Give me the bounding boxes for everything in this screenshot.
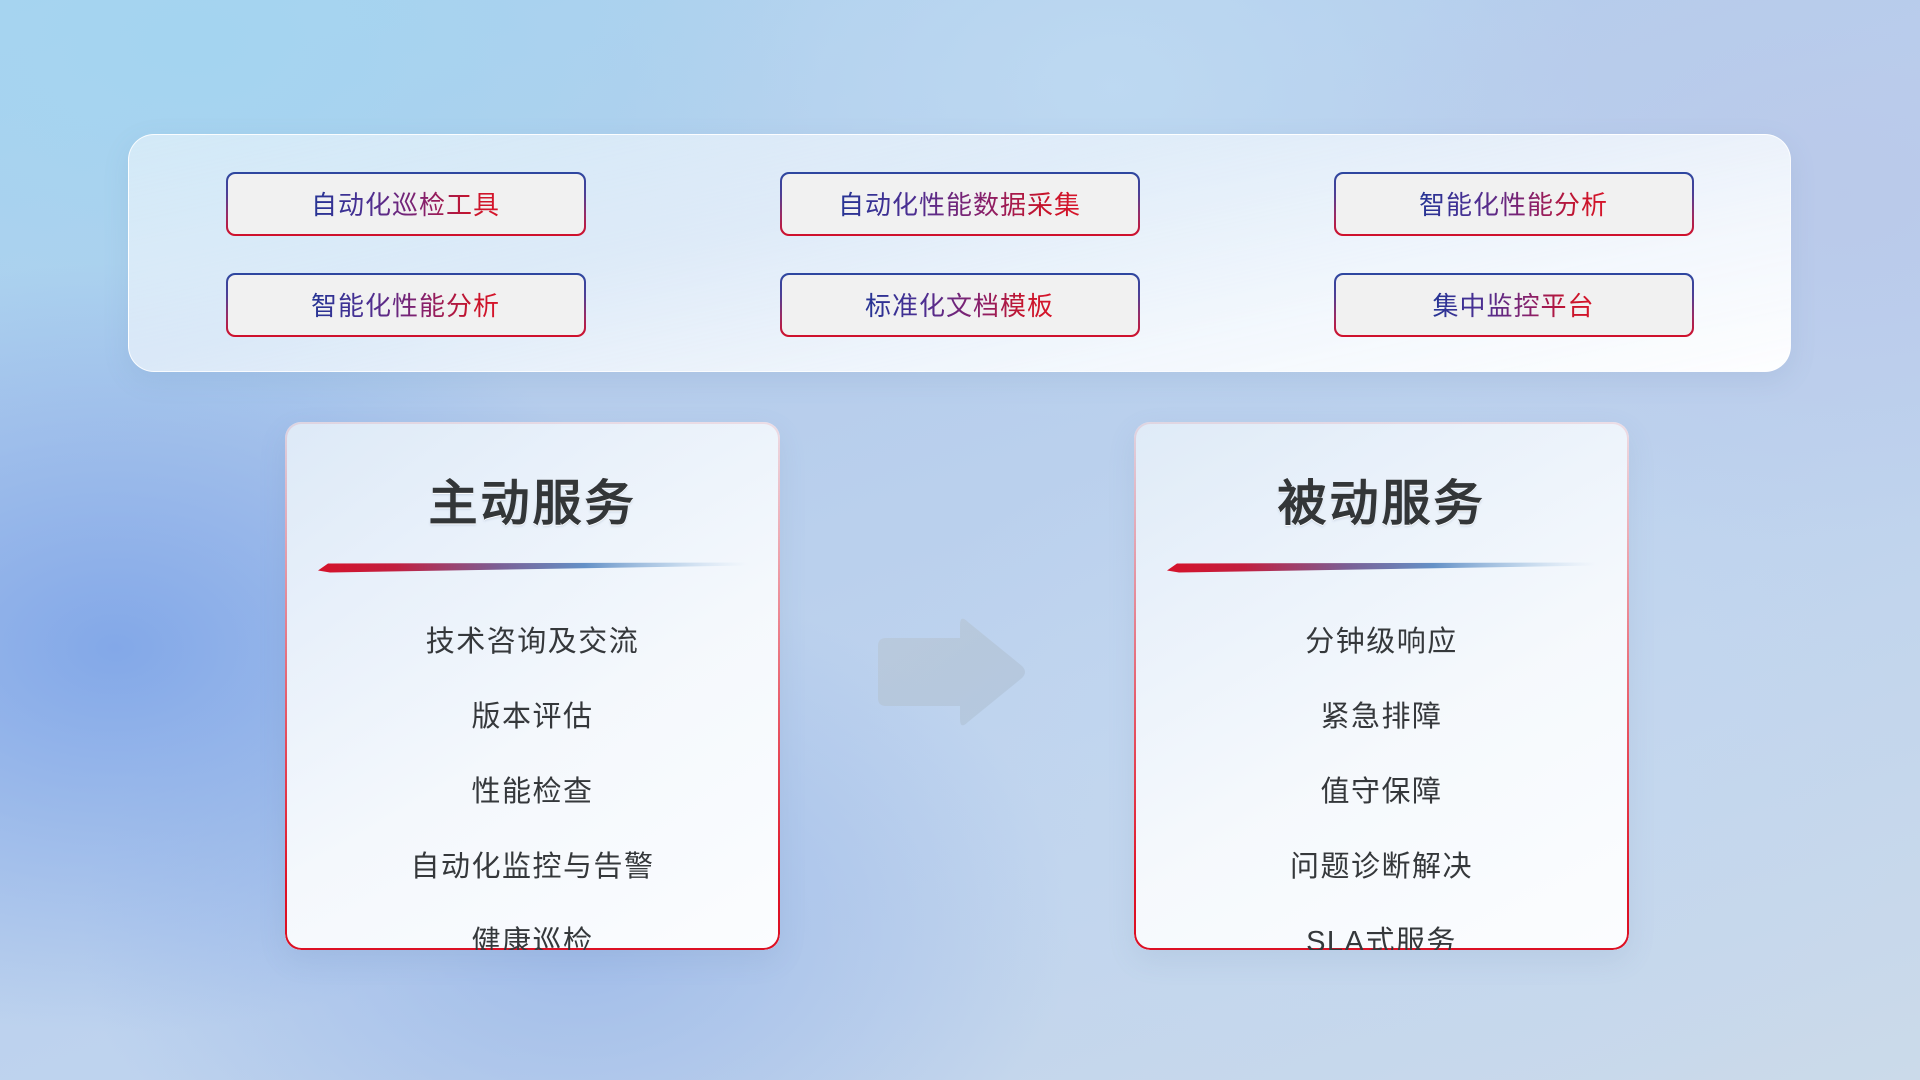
capability-pill-label: 自动化性能数据采集 — [838, 185, 1081, 222]
card-divider — [318, 561, 748, 573]
service-item-list: 技术咨询及交流 版本评估 性能检查 自动化监控与告警 健康巡检 — [285, 601, 780, 950]
service-item[interactable]: 版本评估 — [285, 676, 780, 751]
capability-pill[interactable]: 自动化巡检工具 — [226, 172, 586, 236]
service-item[interactable]: 问题诊断解决 — [1134, 826, 1629, 901]
service-item[interactable]: SLA式服务 — [1134, 901, 1629, 950]
capability-pill[interactable]: 集中监控平台 — [1334, 273, 1694, 337]
capability-pill-label: 智能化性能分析 — [1419, 185, 1608, 222]
service-card-passive: 被动服务 分钟级响应 紧急排障 值守保障 问题诊断解决 SLA式服务 — [1134, 422, 1629, 950]
service-item[interactable]: 自动化监控与告警 — [285, 826, 780, 901]
capability-pill-grid: 自动化巡检工具 自动化性能数据采集 智能化性能分析 智能化性能分析 标准化文档模… — [226, 172, 1694, 337]
capability-pill-label: 标准化文档模板 — [865, 286, 1054, 323]
service-item-list: 分钟级响应 紧急排障 值守保障 问题诊断解决 SLA式服务 — [1134, 601, 1629, 950]
service-item[interactable]: 健康巡检 — [285, 901, 780, 950]
card-divider — [1167, 561, 1597, 573]
capability-panel: 自动化巡检工具 自动化性能数据采集 智能化性能分析 智能化性能分析 标准化文档模… — [128, 134, 1791, 372]
capability-pill[interactable]: 自动化性能数据采集 — [780, 172, 1140, 236]
capability-pill-label: 集中监控平台 — [1432, 286, 1594, 323]
card-title: 主动服务 — [285, 464, 780, 535]
arrow-right-icon — [872, 612, 1032, 732]
service-item[interactable]: 分钟级响应 — [1134, 601, 1629, 676]
service-item[interactable]: 值守保障 — [1134, 751, 1629, 826]
service-item[interactable]: 技术咨询及交流 — [285, 601, 780, 676]
card-title: 被动服务 — [1134, 464, 1629, 535]
capability-pill[interactable]: 智能化性能分析 — [1334, 172, 1694, 236]
capability-pill[interactable]: 标准化文档模板 — [780, 273, 1140, 337]
service-item[interactable]: 紧急排障 — [1134, 676, 1629, 751]
capability-pill[interactable]: 智能化性能分析 — [226, 273, 586, 337]
service-item[interactable]: 性能检查 — [285, 751, 780, 826]
capability-pill-label: 智能化性能分析 — [311, 286, 500, 323]
service-card-active: 主动服务 技术咨询及交流 版本评估 性能检查 自动化监控与告警 健康巡检 — [285, 422, 780, 950]
capability-pill-label: 自动化巡检工具 — [311, 185, 500, 222]
